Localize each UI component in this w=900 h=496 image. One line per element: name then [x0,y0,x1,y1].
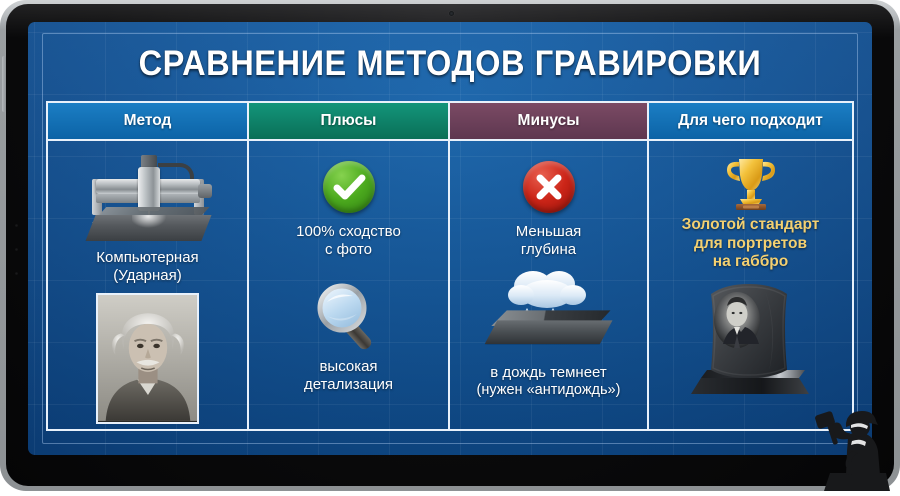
suited-for-line2: для портретов [694,235,807,254]
cons-top-line1: Меньшая [516,223,582,241]
suited-for-line1: Золотой стандарт [682,216,820,235]
tablet-device-frame: СРАВНЕНИЕ МЕТОДОВ ГРАВИРОВКИ Метод Плюсы… [0,0,900,491]
column-header-pros: Плюсы [249,103,450,139]
cons-bottom-line2: (нужен «антидождь») [477,382,621,399]
pros-bottom-line2: детализация [304,376,393,394]
green-check-circle-icon [323,161,375,213]
rain-cloud-on-granite-icon [483,260,615,356]
magnifier-icon [311,280,387,354]
front-camera-icon [449,11,454,16]
pros-bottom-line1: высокая [319,358,377,376]
table-header-row: Метод Плюсы Минусы Для чего подходит [48,103,852,141]
cnc-engraving-machine-icon [78,153,218,245]
column-header-cons: Минусы [450,103,649,139]
granite-headstone-with-portrait-photo [687,278,815,402]
side-port-dot [15,224,18,227]
table-cell-cons: Меньшая глубина [450,141,649,429]
table-cell-suited-for: Золотой стандарт для портретов на габбро [649,141,852,429]
suited-for-line3: на габбро [713,253,788,272]
table-cell-method: Компьютерная (Ударная) [48,141,249,429]
pros-top-line2: с фото [325,241,372,259]
einstein-portrait-photo [96,293,199,424]
table-body-row: Компьютерная (Ударная) [48,141,852,429]
comparison-table: Метод Плюсы Минусы Для чего подходит [46,101,854,431]
gold-trophy-icon [721,155,781,211]
side-port-dot [15,272,18,275]
power-button[interactable] [2,56,6,112]
method-caption-line2: (Ударная) [113,267,182,285]
side-port-dot [15,248,18,251]
cons-bottom-line1: в дождь темнеет [490,364,607,382]
pros-top-line1: 100% сходство [296,223,401,241]
red-cross-circle-icon [523,161,575,213]
column-header-method: Метод [48,103,249,139]
method-caption-line1: Компьютерная [96,249,198,267]
column-header-suited-for: Для чего подходит [649,103,852,139]
cons-top-line2: глубина [521,241,576,259]
tablet-screen: СРАВНЕНИЕ МЕТОДОВ ГРАВИРОВКИ Метод Плюсы… [28,22,872,455]
page-title: СРАВНЕНИЕ МЕТОДОВ ГРАВИРОВКИ [58,44,843,84]
table-cell-pros: 100% сходство с фото [249,141,450,429]
